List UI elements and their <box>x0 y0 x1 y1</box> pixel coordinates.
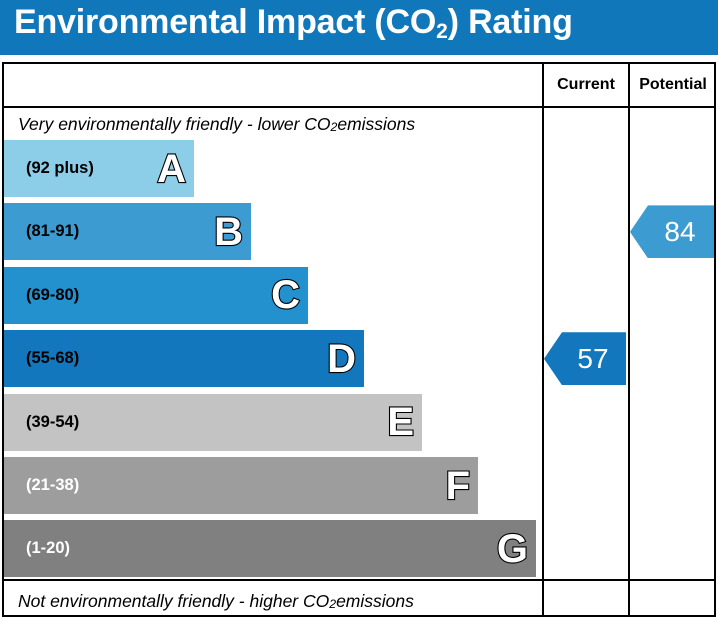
caption-not-friendly: Not environmentally friendly - higher CO… <box>4 585 540 617</box>
title-bar: Environmental Impact (CO2) Rating <box>0 0 718 55</box>
page-title-suffix: ) Rating <box>448 3 573 41</box>
band-column: Very environmentally friendly - lower CO… <box>4 108 540 617</box>
band-letter-g: G <box>497 529 528 569</box>
rating-band-e: (39-54)E <box>4 394 422 451</box>
potential-column-divider <box>628 64 630 615</box>
rating-band-g: (1-20)G <box>4 520 536 577</box>
caption-bottom-subscript: 2 <box>329 597 336 611</box>
current-rating-arrow: 57 <box>544 332 626 385</box>
rating-band-c: (69-80)C <box>4 267 308 324</box>
caption-very-friendly: Very environmentally friendly - lower CO… <box>4 108 540 140</box>
potential-rating-arrow: 84 <box>630 205 714 258</box>
page-title-subscript: 2 <box>436 20 448 43</box>
page-title-prefix: Environmental Impact (CO <box>14 3 436 41</box>
rating-band-d: (55-68)D <box>4 330 364 387</box>
page-title: Environmental Impact (CO2) Rating <box>14 3 573 42</box>
band-range-e: (39-54) <box>26 413 79 432</box>
current-column-divider <box>542 64 544 615</box>
band-letter-d: D <box>327 339 356 379</box>
band-letter-c: C <box>271 275 300 315</box>
epc-environmental-impact-chart: Environmental Impact (CO2) Rating Curren… <box>0 0 718 619</box>
band-range-d: (55-68) <box>26 349 79 368</box>
caption-bottom-prefix: Not environmentally friendly - higher CO <box>18 591 329 612</box>
caption-top-prefix: Very environmentally friendly - lower CO <box>18 114 331 135</box>
band-letter-f: F <box>446 466 470 506</box>
band-range-g: (1-20) <box>26 539 70 558</box>
caption-bottom-suffix: emissions <box>336 591 414 612</box>
caption-top-suffix: emissions <box>337 114 415 135</box>
column-header-current: Current <box>544 64 628 106</box>
rating-band-b: (81-91)B <box>4 203 251 260</box>
band-range-a: (92 plus) <box>26 159 94 178</box>
rating-band-a: (92 plus)A <box>4 140 194 197</box>
band-letter-e: E <box>387 402 414 442</box>
rating-band-f: (21-38)F <box>4 457 478 514</box>
band-range-c: (69-80) <box>26 286 79 305</box>
band-letter-b: B <box>214 212 243 252</box>
caption-top-subscript: 2 <box>331 120 338 134</box>
band-range-b: (81-91) <box>26 222 79 241</box>
band-letter-a: A <box>157 149 186 189</box>
column-header-potential: Potential <box>630 64 716 106</box>
band-range-f: (21-38) <box>26 476 79 495</box>
rating-table: Current Potential Very environmentally f… <box>2 62 716 617</box>
